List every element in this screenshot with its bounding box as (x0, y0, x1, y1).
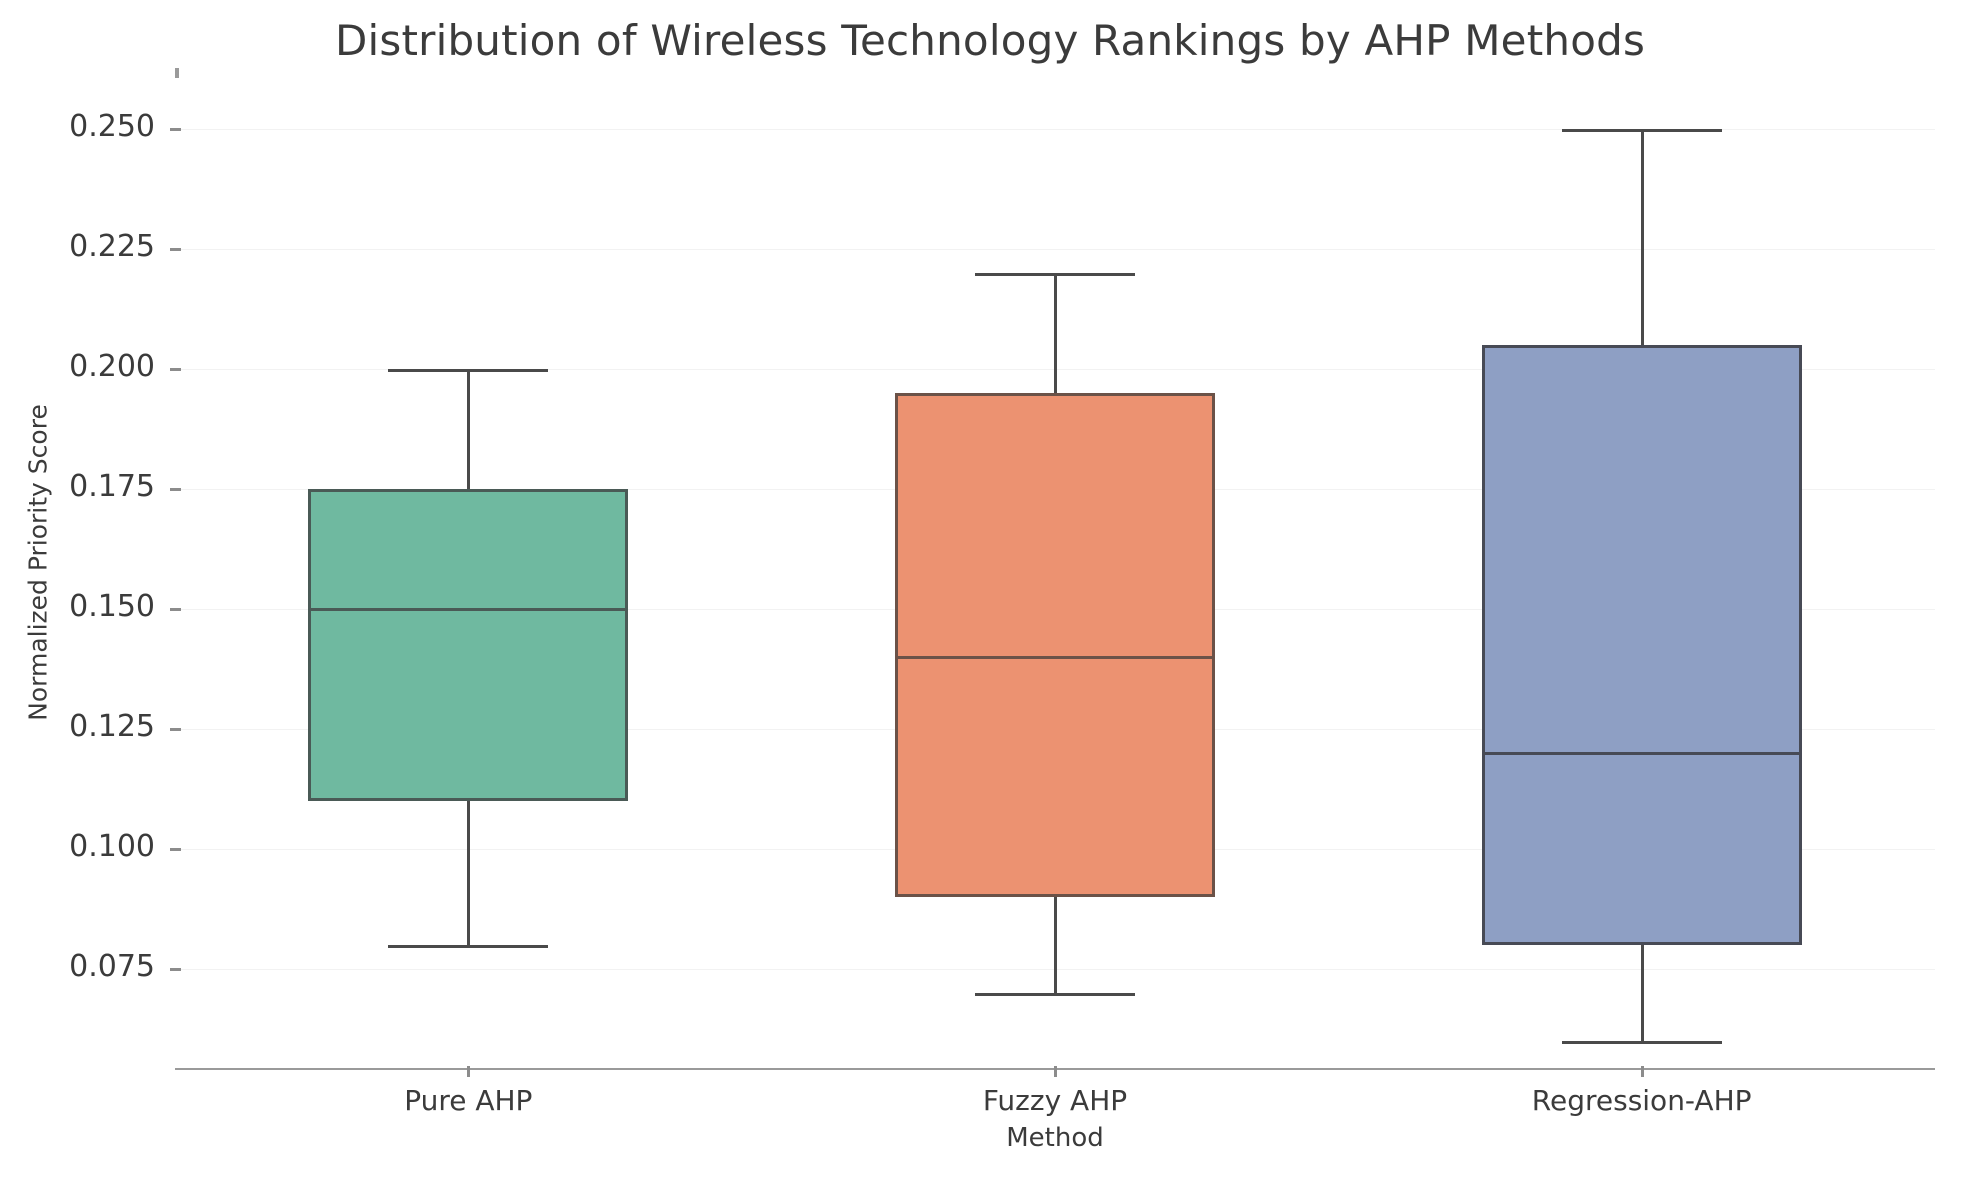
chart-title: Distribution of Wireless Technology Rank… (0, 16, 1980, 65)
y-tick-mark (170, 488, 181, 491)
x-tick-label-pure-ahp: Pure AHP (238, 1084, 698, 1117)
box-body[interactable] (1482, 345, 1802, 945)
y-tick-mark (170, 128, 181, 131)
y-tick-label: 0.075 (15, 949, 155, 984)
median-line (1482, 752, 1802, 755)
whisker-cap-upper (1562, 129, 1722, 132)
x-tick-mark (1641, 1066, 1644, 1077)
plot-area (175, 78, 1935, 1068)
y-tick-mark (170, 248, 181, 251)
y-tick-label: 0.125 (15, 709, 155, 744)
whisker-lower (1641, 945, 1644, 1041)
x-tick-label-fuzzy-ahp: Fuzzy AHP (825, 1084, 1285, 1117)
boxplot-figure: Distribution of Wireless Technology Rank… (0, 0, 1980, 1185)
x-tick-mark (1054, 1066, 1057, 1077)
y-tick-label: 0.225 (15, 229, 155, 264)
y-tick-mark (170, 968, 181, 971)
y-tick-mark (170, 728, 181, 731)
y-tick-label: 0.200 (15, 349, 155, 384)
x-tick-label-regression-ahp: Regression-AHP (1412, 1084, 1872, 1117)
whisker-upper (1641, 129, 1644, 345)
y-tick-label: 0.250 (15, 109, 155, 144)
x-axis-label: Method (175, 1123, 1935, 1153)
y-tick-mark (170, 368, 181, 371)
y-tick-label: 0.150 (15, 589, 155, 624)
y-tick-mark (170, 848, 181, 851)
y-tick-label: 0.175 (15, 469, 155, 504)
x-tick-mark (467, 1066, 470, 1077)
boxplot-regression-ahp[interactable] (175, 78, 1935, 1068)
y-tick-label: 0.100 (15, 829, 155, 864)
whisker-cap-lower (1562, 1041, 1722, 1044)
y-tick-mark (170, 608, 181, 611)
